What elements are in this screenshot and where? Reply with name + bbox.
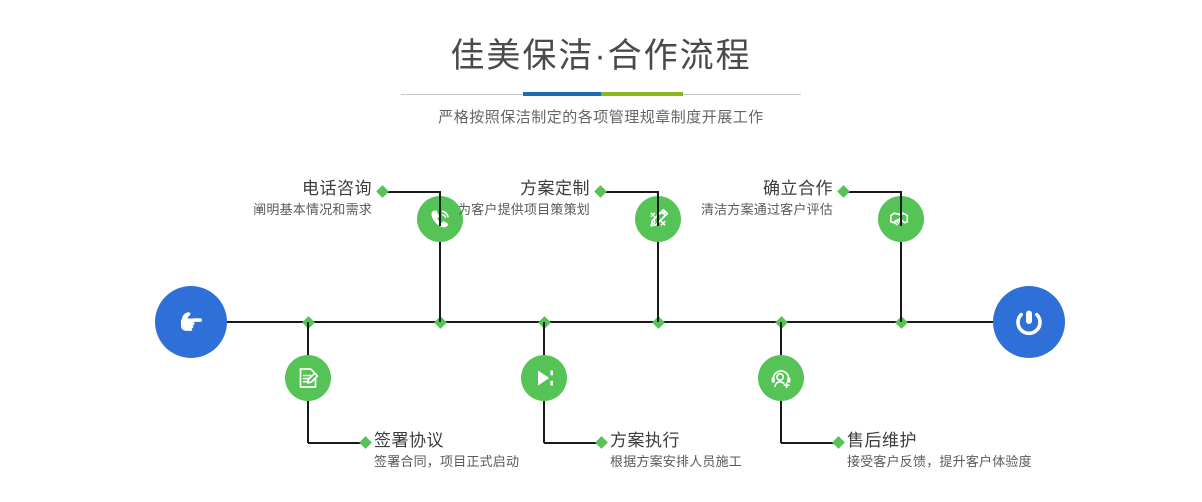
play-execute-icon: [531, 365, 557, 391]
step-title: 确立合作: [633, 178, 833, 200]
divider-segment-green: [601, 92, 683, 96]
step-label-block: 售后维护 接受客户反馈，提升客户体验度: [847, 430, 1097, 472]
step-title: 签署协议: [374, 430, 604, 452]
label-marker-diamond: [594, 185, 607, 198]
label-marker-diamond: [837, 185, 850, 198]
label-elbow-vertical: [307, 401, 309, 443]
step-icon-circle[interactable]: [758, 355, 804, 401]
timeline-end-node: [993, 286, 1065, 358]
page-title: 佳美保洁·合作流程: [0, 0, 1202, 76]
label-elbow-vertical: [780, 401, 782, 443]
label-elbow-vertical: [900, 191, 902, 226]
step-label-block: 确立合作 清洁方案通过客户评估: [633, 178, 833, 220]
step-label-block: 签署协议 签署合同，项目正式启动: [374, 430, 604, 472]
timeline-start-node: [155, 286, 227, 358]
step-title: 方案定制: [390, 178, 590, 200]
label-marker-diamond: [376, 185, 389, 198]
step-desc: 为客户提供项目策策划: [390, 200, 590, 220]
step-desc: 接受客户反馈，提升客户体验度: [847, 452, 1097, 472]
step-desc: 签署合同，项目正式启动: [374, 452, 604, 472]
infographic-canvas: 佳美保洁·合作流程 严格按照保洁制定的各项管理规章制度开展工作: [0, 0, 1202, 502]
label-elbow-horizontal: [844, 191, 901, 193]
contract-sign-icon: [295, 365, 321, 391]
label-elbow-horizontal: [308, 442, 365, 444]
step-icon-circle[interactable]: [521, 355, 567, 401]
pointing-hand-icon: [171, 302, 211, 342]
connector-stem: [543, 322, 545, 355]
step-icon-circle[interactable]: [285, 355, 331, 401]
label-elbow-horizontal: [544, 442, 601, 444]
divider-segment-blue: [523, 92, 601, 96]
connector-stem: [307, 322, 309, 355]
step-label-block: 电话咨询 阐明基本情况和需求: [172, 178, 372, 220]
step-desc: 根据方案安排人员施工: [610, 452, 840, 472]
page-subtitle: 严格按照保洁制定的各项管理规章制度开展工作: [0, 96, 1202, 128]
step-title: 电话咨询: [172, 178, 372, 200]
label-marker-diamond: [359, 436, 372, 449]
step-desc: 阐明基本情况和需求: [172, 200, 372, 220]
label-elbow-horizontal: [781, 442, 838, 444]
step-title: 售后维护: [847, 430, 1097, 452]
label-elbow-vertical: [543, 401, 545, 443]
header: 佳美保洁·合作流程 严格按照保洁制定的各项管理规章制度开展工作: [0, 0, 1202, 128]
title-divider: [401, 92, 801, 96]
step-title: 方案执行: [610, 430, 840, 452]
power-icon: [1009, 302, 1049, 342]
customer-support-icon: [768, 365, 794, 391]
step-label-block: 方案定制 为客户提供项目策策划: [390, 178, 590, 220]
step-label-block: 方案执行 根据方案安排人员施工: [610, 430, 840, 472]
connector-stem: [780, 322, 782, 355]
step-desc: 清洁方案通过客户评估: [633, 200, 833, 220]
